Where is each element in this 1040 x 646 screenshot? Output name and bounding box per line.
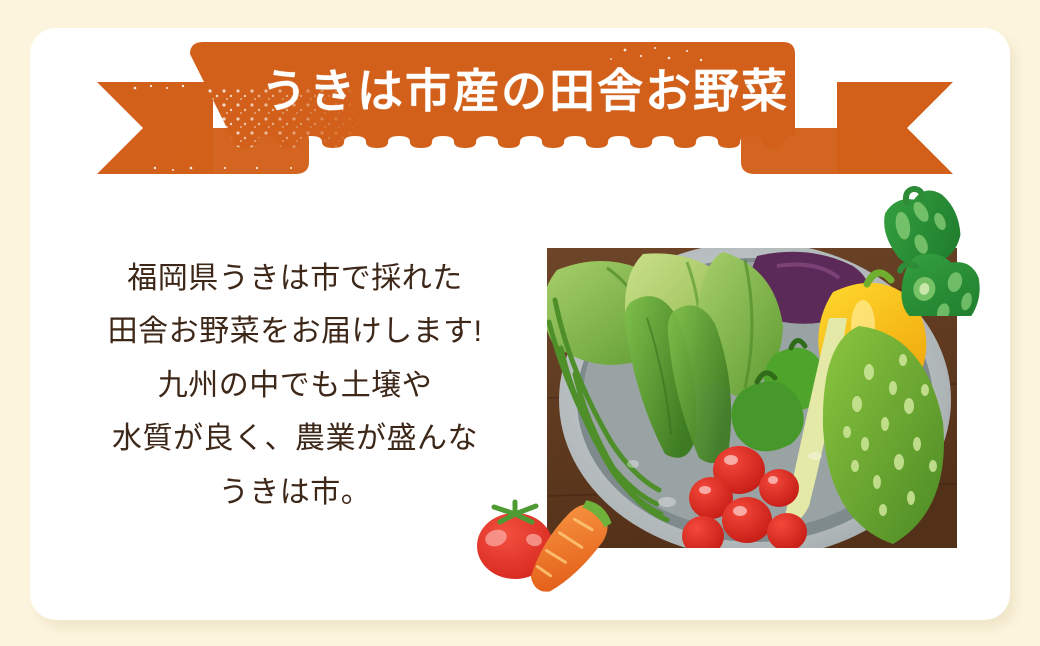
banner-title: うきは市産の田舎お野菜 — [95, 32, 955, 150]
description-line-3: 九州の中でも土壌や — [60, 359, 530, 412]
description-line-2: 田舎お野菜をお届けします! — [60, 305, 530, 358]
description-line-1: 福岡県うきは市で採れた — [60, 252, 530, 305]
description-line-4: 水質が良く、農業が盛んな — [60, 412, 530, 465]
description-line-5: うきは市。 — [60, 466, 530, 519]
description-text: 福岡県うきは市で採れた 田舎お野菜をお届けします! 九州の中でも土壌や 水質が良… — [60, 252, 530, 519]
vegetable-photo-image — [547, 248, 957, 548]
ribbon-banner: うきは市産の田舎お野菜 — [95, 32, 955, 182]
page-root: うきは市産の田舎お野菜 福岡県うきは市で採れた 田舎お野菜をお届けします! 九州… — [0, 0, 1040, 646]
vegetable-photo — [547, 248, 957, 548]
